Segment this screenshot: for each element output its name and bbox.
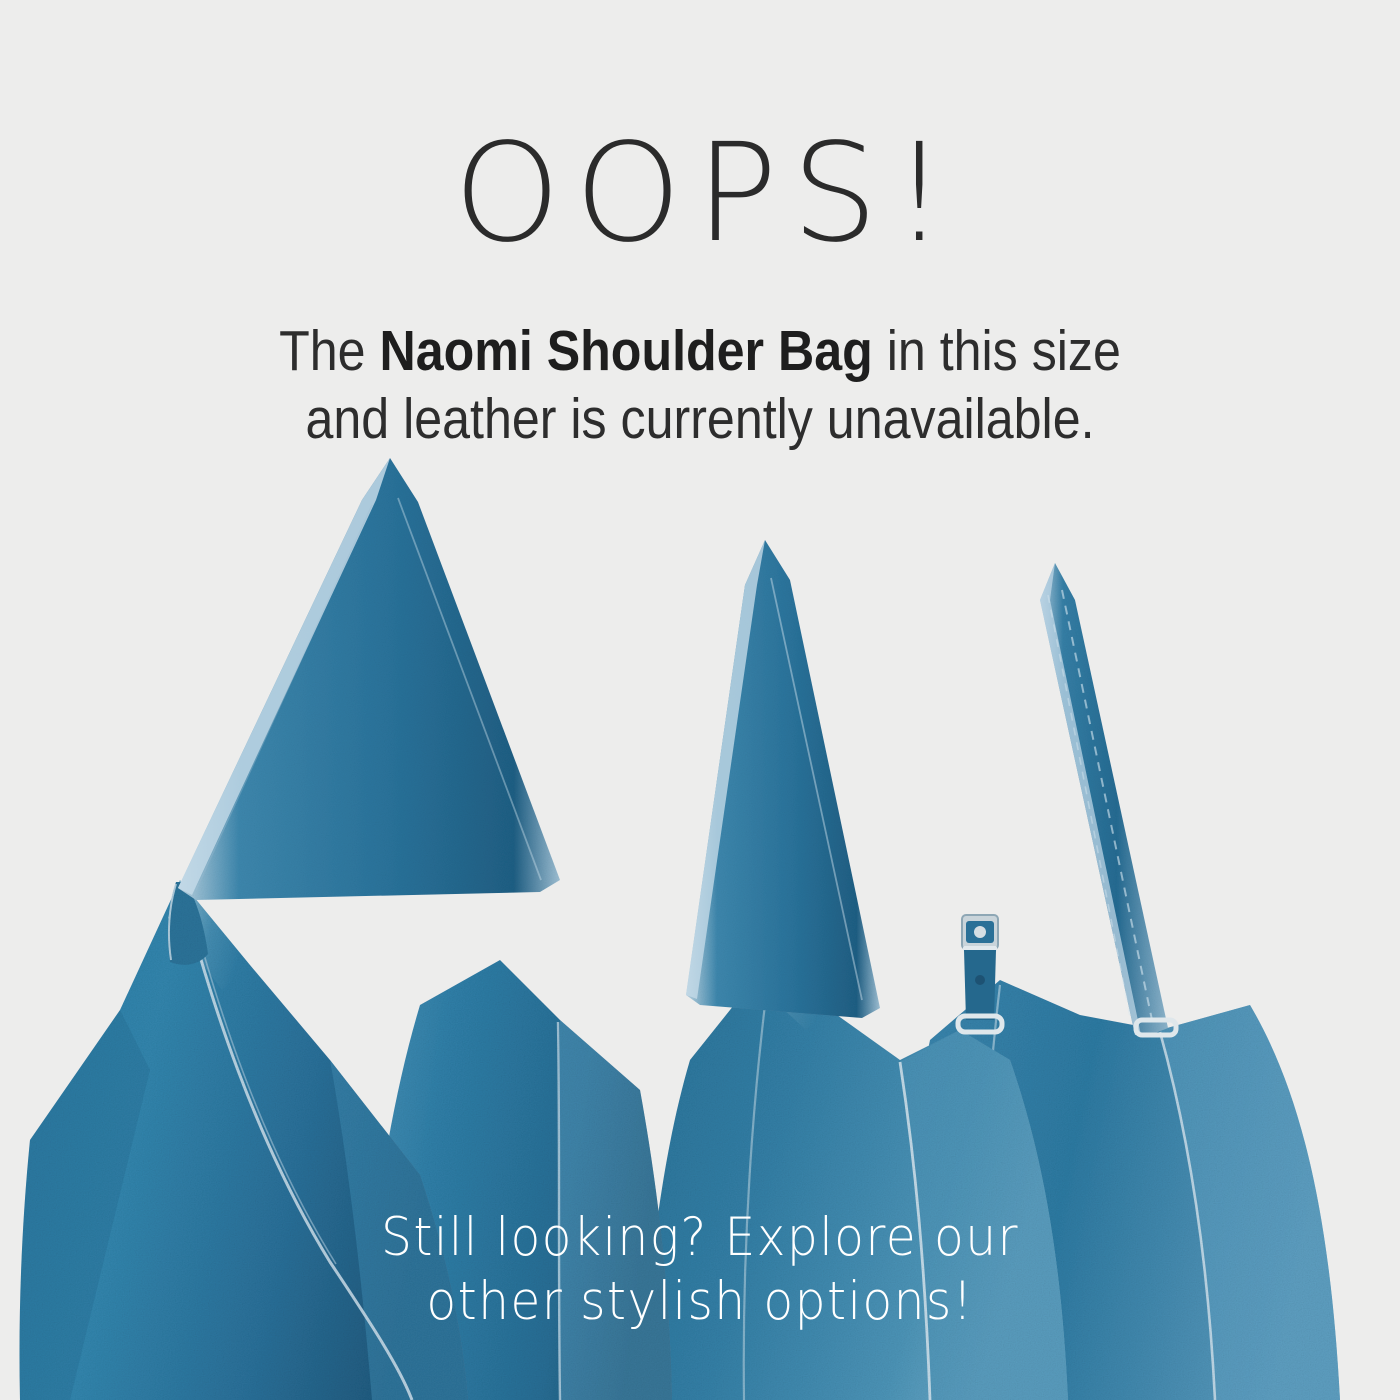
page-title-oops: OOPS! [0, 126, 1400, 262]
bag-middle-strap [686, 540, 880, 1018]
explore-options-cta[interactable]: Still looking? Explore our other stylish… [56, 1206, 1344, 1333]
bag-left-strap [178, 458, 560, 900]
unavailable-message-line-2: and leather is currently unavailable. [84, 386, 1316, 454]
message-prefix: The [279, 319, 379, 383]
bag-right-strap [1040, 563, 1168, 1035]
message-suffix: in this size [873, 319, 1121, 383]
product-name: Naomi Shoulder Bag [379, 319, 872, 383]
cta-line-2: other stylish options! [56, 1270, 1344, 1334]
unavailable-message: The Naomi Shoulder Bag in this size and … [84, 318, 1316, 454]
promo-card: OOPS! The Naomi Shoulder Bag in this siz… [0, 0, 1400, 1400]
cta-line-1: Still looking? Explore our [56, 1206, 1344, 1270]
unavailable-message-line-1: The Naomi Shoulder Bag in this size [84, 318, 1316, 386]
